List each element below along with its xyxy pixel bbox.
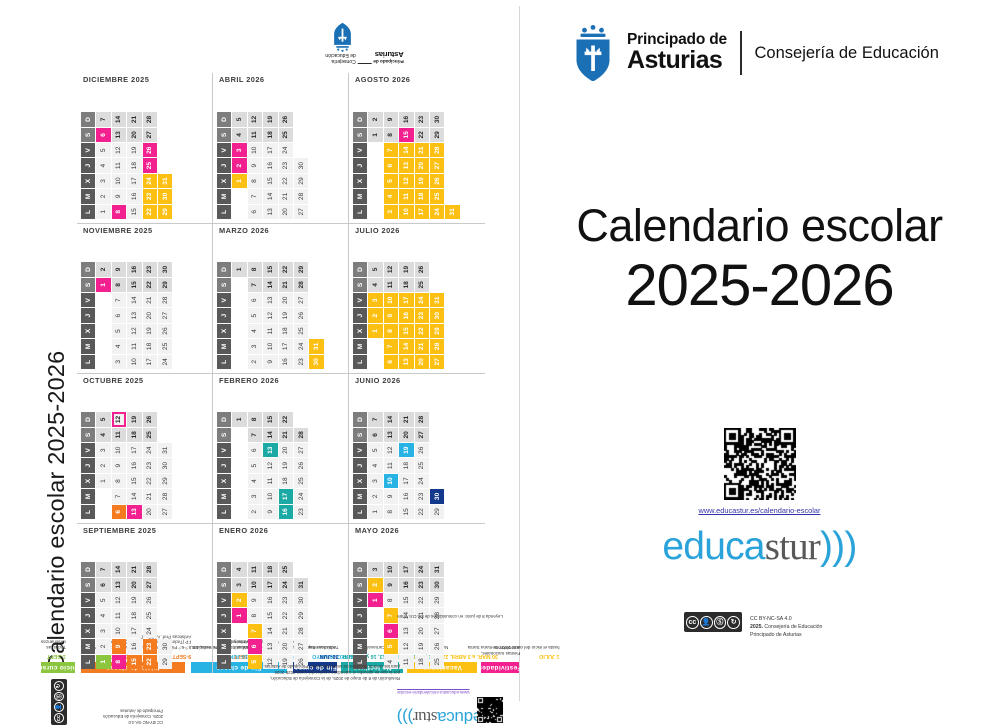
- day-cell[interactable]: 28: [294, 624, 308, 638]
- day-cell[interactable]: 1: [96, 205, 110, 219]
- day-cell[interactable]: 13: [112, 128, 126, 142]
- day-cell[interactable]: 31: [309, 339, 323, 353]
- day-cell[interactable]: 27: [294, 205, 308, 219]
- day-cell[interactable]: 15: [127, 205, 141, 219]
- day-cell[interactable]: 25: [279, 128, 293, 142]
- day-cell[interactable]: 11: [263, 474, 277, 488]
- day-cell[interactable]: 8: [384, 593, 398, 607]
- day-cell[interactable]: 29: [430, 128, 444, 142]
- day-cell[interactable]: 25: [279, 562, 293, 576]
- day-cell[interactable]: 8: [112, 205, 126, 219]
- day-cell[interactable]: 18: [127, 608, 141, 622]
- day-cell[interactable]: 21: [279, 278, 293, 292]
- day-cell[interactable]: 7: [248, 624, 262, 638]
- day-cell[interactable]: 6: [384, 624, 398, 638]
- day-cell[interactable]: 6: [248, 443, 262, 457]
- day-cell[interactable]: 31: [430, 293, 444, 307]
- day-cell[interactable]: 19: [127, 143, 141, 157]
- day-cell[interactable]: 6: [248, 293, 262, 307]
- day-cell[interactable]: 31: [158, 174, 172, 188]
- day-cell[interactable]: 9: [263, 355, 277, 369]
- day-cell[interactable]: 4: [384, 189, 398, 203]
- day-cell[interactable]: 17: [263, 578, 277, 592]
- day-cell[interactable]: 11: [399, 189, 413, 203]
- cover-url[interactable]: www.educastur.es/calendario-escolar: [519, 506, 1000, 515]
- day-cell[interactable]: 23: [143, 262, 157, 276]
- day-cell[interactable]: 3: [368, 293, 382, 307]
- day-cell[interactable]: 23: [415, 578, 429, 592]
- day-cell[interactable]: 22: [279, 174, 293, 188]
- day-cell[interactable]: 6: [384, 158, 398, 172]
- day-cell[interactable]: 10: [384, 562, 398, 576]
- day-cell[interactable]: 12: [263, 458, 277, 472]
- day-cell[interactable]: 21: [143, 489, 157, 503]
- day-cell[interactable]: 12: [127, 324, 141, 338]
- day-cell[interactable]: 28: [294, 189, 308, 203]
- day-cell[interactable]: 30: [158, 189, 172, 203]
- day-cell[interactable]: 7: [248, 189, 262, 203]
- day-cell[interactable]: 28: [143, 562, 157, 576]
- day-cell[interactable]: 29: [294, 262, 308, 276]
- day-cell[interactable]: 9: [112, 639, 126, 653]
- day-cell[interactable]: 28: [430, 339, 444, 353]
- day-cell[interactable]: 20: [143, 505, 157, 519]
- day-cell[interactable]: 21: [415, 143, 429, 157]
- day-cell[interactable]: 9: [263, 505, 277, 519]
- day-cell[interactable]: 28: [143, 112, 157, 126]
- day-cell[interactable]: 1: [96, 278, 110, 292]
- day-cell[interactable]: 3: [384, 205, 398, 219]
- day-cell[interactable]: 4: [368, 458, 382, 472]
- day-cell[interactable]: 16: [279, 355, 293, 369]
- day-cell[interactable]: 14: [112, 112, 126, 126]
- day-cell[interactable]: 29: [294, 174, 308, 188]
- day-cell[interactable]: 23: [415, 112, 429, 126]
- day-cell[interactable]: 15: [127, 655, 141, 669]
- day-cell[interactable]: 26: [143, 143, 157, 157]
- day-cell[interactable]: 23: [279, 593, 293, 607]
- day-cell[interactable]: 26: [143, 412, 157, 426]
- day-cell[interactable]: 22: [279, 608, 293, 622]
- day-cell[interactable]: 10: [263, 489, 277, 503]
- day-cell[interactable]: 3: [96, 443, 110, 457]
- day-cell[interactable]: 21: [399, 412, 413, 426]
- day-cell[interactable]: 11: [127, 339, 141, 353]
- day-cell[interactable]: 15: [399, 128, 413, 142]
- day-cell[interactable]: 30: [158, 639, 172, 653]
- day-cell[interactable]: 21: [127, 112, 141, 126]
- day-cell[interactable]: 4: [368, 278, 382, 292]
- day-cell[interactable]: 24: [158, 355, 172, 369]
- day-cell[interactable]: 3: [368, 474, 382, 488]
- day-cell[interactable]: 12: [248, 112, 262, 126]
- day-cell[interactable]: 25: [143, 608, 157, 622]
- day-cell[interactable]: 17: [263, 143, 277, 157]
- day-cell[interactable]: 26: [294, 458, 308, 472]
- day-cell[interactable]: 24: [143, 174, 157, 188]
- day-cell[interactable]: 11: [112, 158, 126, 172]
- day-cell[interactable]: 18: [263, 562, 277, 576]
- day-cell[interactable]: 24: [279, 578, 293, 592]
- day-cell[interactable]: 23: [415, 308, 429, 322]
- day-cell[interactable]: 3: [112, 355, 126, 369]
- day-cell[interactable]: 7: [248, 278, 262, 292]
- day-cell[interactable]: 29: [294, 608, 308, 622]
- day-cell[interactable]: 5: [96, 593, 110, 607]
- day-cell[interactable]: 11: [384, 458, 398, 472]
- day-cell[interactable]: 27: [430, 355, 444, 369]
- day-cell[interactable]: 17: [415, 205, 429, 219]
- day-cell[interactable]: 29: [430, 593, 444, 607]
- day-cell[interactable]: 3: [248, 339, 262, 353]
- day-cell[interactable]: 22: [143, 474, 157, 488]
- day-cell[interactable]: 30: [430, 112, 444, 126]
- day-cell[interactable]: 16: [127, 262, 141, 276]
- day-cell[interactable]: 20: [415, 355, 429, 369]
- day-cell[interactable]: 14: [112, 562, 126, 576]
- day-cell[interactable]: 13: [399, 158, 413, 172]
- day-cell[interactable]: 4: [96, 428, 110, 442]
- day-cell[interactable]: 26: [430, 174, 444, 188]
- day-cell[interactable]: 18: [399, 458, 413, 472]
- day-cell[interactable]: 3: [368, 562, 382, 576]
- day-cell[interactable]: 6: [368, 428, 382, 442]
- day-cell[interactable]: 4: [248, 324, 262, 338]
- day-cell[interactable]: 23: [415, 489, 429, 503]
- day-cell[interactable]: 30: [294, 593, 308, 607]
- day-cell[interactable]: 4: [96, 158, 110, 172]
- day-cell[interactable]: 10: [399, 205, 413, 219]
- day-cell[interactable]: 16: [399, 112, 413, 126]
- day-cell[interactable]: 7: [96, 112, 110, 126]
- day-cell[interactable]: 20: [279, 639, 293, 653]
- day-cell[interactable]: 24: [430, 205, 444, 219]
- day-cell[interactable]: 18: [263, 128, 277, 142]
- day-cell[interactable]: 19: [263, 112, 277, 126]
- day-cell[interactable]: 1: [232, 174, 246, 188]
- day-cell[interactable]: 6: [96, 578, 110, 592]
- day-cell[interactable]: 3: [96, 174, 110, 188]
- day-cell[interactable]: 10: [263, 339, 277, 353]
- day-cell[interactable]: 1: [368, 593, 382, 607]
- day-cell[interactable]: 22: [415, 593, 429, 607]
- day-cell[interactable]: 16: [279, 505, 293, 519]
- day-cell[interactable]: 2: [368, 578, 382, 592]
- day-cell[interactable]: 21: [279, 189, 293, 203]
- day-cell[interactable]: 25: [294, 324, 308, 338]
- day-cell[interactable]: 12: [384, 262, 398, 276]
- day-cell[interactable]: 6: [384, 355, 398, 369]
- day-cell[interactable]: 20: [143, 308, 157, 322]
- day-cell[interactable]: 2: [368, 489, 382, 503]
- day-cell[interactable]: 12: [112, 143, 126, 157]
- day-cell[interactable]: 8: [248, 174, 262, 188]
- day-cell[interactable]: 8: [112, 474, 126, 488]
- day-cell[interactable]: 31: [445, 205, 459, 219]
- day-cell[interactable]: 19: [127, 412, 141, 426]
- day-cell[interactable]: 7: [248, 428, 262, 442]
- day-cell[interactable]: 2: [96, 458, 110, 472]
- day-cell[interactable]: 29: [430, 324, 444, 338]
- day-cell[interactable]: 5: [248, 308, 262, 322]
- day-cell[interactable]: 24: [415, 562, 429, 576]
- day-cell[interactable]: 2: [248, 355, 262, 369]
- day-cell[interactable]: 24: [294, 489, 308, 503]
- day-cell[interactable]: 14: [384, 412, 398, 426]
- day-cell[interactable]: 14: [263, 278, 277, 292]
- day-cell[interactable]: 7: [384, 143, 398, 157]
- day-cell[interactable]: 14: [263, 428, 277, 442]
- day-cell[interactable]: 18: [127, 158, 141, 172]
- day-cell[interactable]: 20: [399, 428, 413, 442]
- day-cell[interactable]: 23: [279, 158, 293, 172]
- day-cell[interactable]: 8: [248, 262, 262, 276]
- day-cell[interactable]: 12: [112, 593, 126, 607]
- day-cell[interactable]: 2: [368, 112, 382, 126]
- day-cell[interactable]: 27: [294, 293, 308, 307]
- day-cell[interactable]: 13: [399, 355, 413, 369]
- day-cell[interactable]: 17: [399, 562, 413, 576]
- day-cell[interactable]: 18: [127, 428, 141, 442]
- day-cell[interactable]: 17: [127, 443, 141, 457]
- day-cell[interactable]: 8: [112, 278, 126, 292]
- day-cell[interactable]: 14: [127, 489, 141, 503]
- day-cell[interactable]: 25: [430, 189, 444, 203]
- day-cell[interactable]: 27: [143, 578, 157, 592]
- day-cell[interactable]: 1: [96, 474, 110, 488]
- day-cell[interactable]: 11: [248, 128, 262, 142]
- day-cell[interactable]: 22: [415, 505, 429, 519]
- day-cell[interactable]: 18: [279, 324, 293, 338]
- day-cell[interactable]: 10: [112, 174, 126, 188]
- day-cell[interactable]: 20: [415, 624, 429, 638]
- day-cell[interactable]: 22: [279, 262, 293, 276]
- day-cell[interactable]: 27: [294, 639, 308, 653]
- day-cell[interactable]: 28: [294, 278, 308, 292]
- day-cell[interactable]: 20: [127, 128, 141, 142]
- day-cell[interactable]: 16: [399, 308, 413, 322]
- day-cell[interactable]: 26: [158, 324, 172, 338]
- day-cell[interactable]: 31: [294, 578, 308, 592]
- day-cell[interactable]: 10: [384, 474, 398, 488]
- day-cell[interactable]: 23: [143, 458, 157, 472]
- day-cell[interactable]: 22: [143, 205, 157, 219]
- day-cell[interactable]: 17: [127, 174, 141, 188]
- day-cell[interactable]: 10: [248, 143, 262, 157]
- day-cell[interactable]: 27: [415, 428, 429, 442]
- day-cell[interactable]: 19: [399, 262, 413, 276]
- day-cell[interactable]: 21: [279, 428, 293, 442]
- day-cell[interactable]: 13: [127, 505, 141, 519]
- day-cell[interactable]: 6: [248, 205, 262, 219]
- day-cell[interactable]: 9: [384, 578, 398, 592]
- day-cell[interactable]: 24: [279, 143, 293, 157]
- day-cell[interactable]: 29: [158, 474, 172, 488]
- qr-code-calendar[interactable]: [477, 697, 503, 723]
- day-cell[interactable]: 18: [415, 189, 429, 203]
- day-cell[interactable]: 27: [294, 443, 308, 457]
- day-cell[interactable]: 9: [248, 158, 262, 172]
- day-cell[interactable]: 25: [143, 158, 157, 172]
- day-cell[interactable]: 26: [143, 593, 157, 607]
- day-cell[interactable]: 21: [279, 624, 293, 638]
- day-cell[interactable]: 6: [112, 308, 126, 322]
- day-cell[interactable]: 27: [430, 158, 444, 172]
- day-cell[interactable]: 16: [263, 593, 277, 607]
- day-cell[interactable]: 8: [112, 655, 126, 669]
- day-cell[interactable]: 15: [263, 412, 277, 426]
- day-cell[interactable]: 22: [415, 128, 429, 142]
- day-cell[interactable]: 21: [127, 562, 141, 576]
- day-cell[interactable]: 1: [368, 128, 382, 142]
- day-cell[interactable]: 15: [399, 324, 413, 338]
- day-cell[interactable]: 5: [384, 639, 398, 653]
- day-cell[interactable]: 15: [263, 608, 277, 622]
- day-cell[interactable]: 19: [399, 443, 413, 457]
- day-cell[interactable]: 24: [143, 443, 157, 457]
- day-cell[interactable]: 29: [158, 655, 172, 669]
- day-cell[interactable]: 20: [127, 578, 141, 592]
- day-cell[interactable]: 22: [415, 324, 429, 338]
- day-cell[interactable]: 15: [399, 593, 413, 607]
- day-cell[interactable]: 7: [112, 293, 126, 307]
- day-cell[interactable]: 3: [232, 143, 246, 157]
- day-cell[interactable]: 17: [279, 489, 293, 503]
- day-cell[interactable]: 16: [127, 458, 141, 472]
- day-cell[interactable]: 2: [96, 639, 110, 653]
- day-cell[interactable]: 22: [143, 278, 157, 292]
- day-cell[interactable]: 20: [279, 293, 293, 307]
- day-cell[interactable]: 10: [112, 443, 126, 457]
- day-cell[interactable]: 17: [399, 293, 413, 307]
- day-cell[interactable]: 24: [415, 474, 429, 488]
- day-cell[interactable]: 28: [158, 489, 172, 503]
- day-cell[interactable]: 4: [232, 128, 246, 142]
- day-cell[interactable]: 9: [112, 262, 126, 276]
- day-cell[interactable]: 15: [263, 262, 277, 276]
- day-cell[interactable]: 30: [430, 489, 444, 503]
- day-cell[interactable]: 17: [279, 339, 293, 353]
- day-cell[interactable]: 6: [112, 505, 126, 519]
- day-cell[interactable]: 18: [399, 278, 413, 292]
- day-cell[interactable]: 10: [248, 578, 262, 592]
- day-cell[interactable]: 2: [232, 593, 246, 607]
- day-cell[interactable]: 8: [248, 608, 262, 622]
- day-cell[interactable]: 1: [232, 412, 246, 426]
- day-cell[interactable]: 19: [127, 593, 141, 607]
- day-cell[interactable]: 5: [96, 143, 110, 157]
- day-cell[interactable]: 30: [430, 308, 444, 322]
- day-cell[interactable]: 14: [127, 293, 141, 307]
- day-cell[interactable]: 25: [294, 474, 308, 488]
- day-cell[interactable]: 25: [158, 339, 172, 353]
- day-cell[interactable]: 31: [430, 562, 444, 576]
- day-cell[interactable]: 11: [384, 278, 398, 292]
- day-cell[interactable]: 20: [279, 443, 293, 457]
- day-cell[interactable]: 13: [112, 578, 126, 592]
- day-cell[interactable]: 26: [415, 262, 429, 276]
- day-cell[interactable]: 11: [248, 562, 262, 576]
- day-cell[interactable]: 8: [248, 412, 262, 426]
- day-cell[interactable]: 11: [112, 608, 126, 622]
- day-cell[interactable]: 31: [158, 443, 172, 457]
- day-cell[interactable]: 13: [127, 308, 141, 322]
- day-cell[interactable]: 19: [415, 639, 429, 653]
- day-cell[interactable]: 30: [430, 578, 444, 592]
- educastur-url-calendar[interactable]: www.educastur.es/calendario-escolar: [397, 690, 469, 695]
- day-cell[interactable]: 15: [127, 278, 141, 292]
- day-cell[interactable]: 5: [384, 174, 398, 188]
- day-cell[interactable]: 14: [263, 624, 277, 638]
- day-cell[interactable]: 20: [279, 205, 293, 219]
- day-cell[interactable]: 12: [384, 443, 398, 457]
- day-cell[interactable]: 8: [384, 128, 398, 142]
- day-cell[interactable]: 19: [415, 174, 429, 188]
- day-cell[interactable]: 14: [399, 339, 413, 353]
- day-cell[interactable]: 12: [263, 308, 277, 322]
- day-cell[interactable]: 13: [263, 293, 277, 307]
- day-cell[interactable]: 11: [263, 324, 277, 338]
- day-cell[interactable]: 6: [248, 639, 262, 653]
- day-cell[interactable]: 8: [384, 324, 398, 338]
- day-cell[interactable]: 16: [399, 578, 413, 592]
- day-cell[interactable]: 8: [384, 505, 398, 519]
- day-cell[interactable]: 5: [232, 112, 246, 126]
- day-cell[interactable]: 9: [248, 593, 262, 607]
- day-cell[interactable]: 21: [143, 293, 157, 307]
- day-cell[interactable]: 12: [399, 174, 413, 188]
- day-cell[interactable]: 16: [399, 489, 413, 503]
- day-cell[interactable]: 29: [158, 278, 172, 292]
- day-cell[interactable]: 9: [384, 308, 398, 322]
- day-cell[interactable]: 16: [127, 189, 141, 203]
- day-cell[interactable]: 10: [112, 624, 126, 638]
- day-cell[interactable]: 4: [96, 608, 110, 622]
- day-cell[interactable]: 17: [399, 474, 413, 488]
- day-cell[interactable]: 3: [232, 578, 246, 592]
- day-cell[interactable]: 15: [263, 174, 277, 188]
- day-cell[interactable]: 5: [248, 458, 262, 472]
- day-cell[interactable]: 9: [112, 189, 126, 203]
- day-cell[interactable]: 29: [158, 205, 172, 219]
- day-cell[interactable]: 27: [158, 308, 172, 322]
- day-cell[interactable]: 5: [368, 262, 382, 276]
- day-cell[interactable]: 15: [399, 505, 413, 519]
- day-cell[interactable]: 2: [96, 262, 110, 276]
- day-cell[interactable]: 20: [415, 158, 429, 172]
- day-cell[interactable]: 30: [309, 355, 323, 369]
- day-cell[interactable]: 21: [415, 339, 429, 353]
- day-cell[interactable]: 4: [112, 339, 126, 353]
- day-cell[interactable]: 1: [232, 608, 246, 622]
- day-cell[interactable]: 10: [127, 355, 141, 369]
- day-cell[interactable]: 2: [232, 158, 246, 172]
- day-cell[interactable]: 5: [112, 324, 126, 338]
- day-cell[interactable]: 30: [158, 262, 172, 276]
- day-cell[interactable]: 13: [263, 205, 277, 219]
- day-cell[interactable]: 9: [112, 458, 126, 472]
- day-cell[interactable]: 19: [279, 308, 293, 322]
- day-cell[interactable]: 3: [248, 489, 262, 503]
- day-cell[interactable]: 1: [96, 655, 110, 669]
- day-cell[interactable]: 16: [127, 639, 141, 653]
- day-cell[interactable]: 3: [96, 624, 110, 638]
- day-cell[interactable]: 9: [384, 489, 398, 503]
- day-cell[interactable]: 14: [263, 189, 277, 203]
- day-cell[interactable]: 7: [112, 489, 126, 503]
- day-cell[interactable]: 1: [368, 505, 382, 519]
- day-cell[interactable]: 22: [143, 655, 157, 669]
